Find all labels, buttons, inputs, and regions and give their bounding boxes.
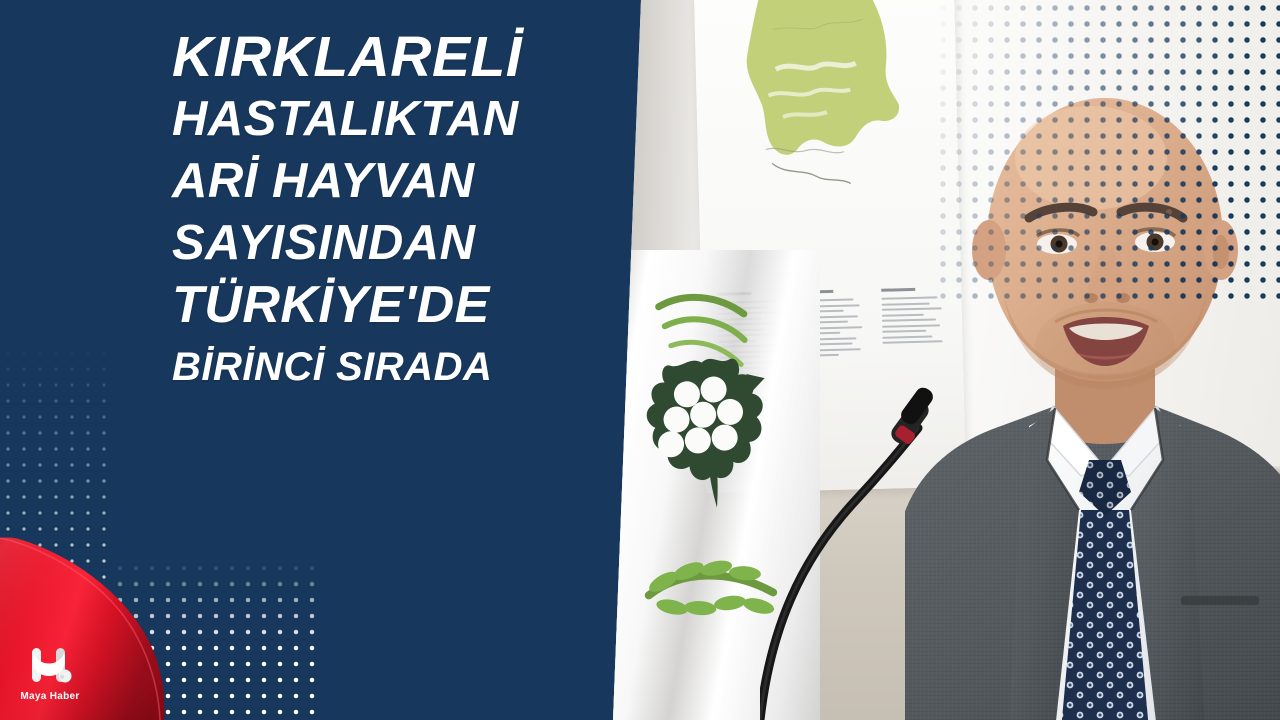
headline-line-5: TÜRKİYE'DE	[172, 274, 642, 336]
headline-line-6: BİRİNCİ SIRADA	[172, 336, 642, 398]
brand-logo[interactable]: Maya Haber	[14, 642, 86, 702]
headline-line-3: ARİ HAYVAN	[172, 150, 642, 212]
right-halftone-dot-grid	[935, 0, 1280, 300]
headline: KIRKLARELİ HASTALIKTAN ARİ HAYVAN SAYISI…	[172, 26, 642, 398]
headline-line-1: KIRKLARELİ	[172, 26, 642, 88]
headline-line-2: HASTALIKTAN	[172, 88, 642, 150]
news-graphic-card: KIRKLARELİ HASTALIKTAN ARİ HAYVAN SAYISI…	[0, 0, 1280, 720]
map-landmass-icon	[712, 0, 918, 231]
brand-name: Maya Haber	[14, 691, 86, 702]
maya-haber-h-monogram-icon	[24, 642, 76, 688]
headline-line-4: SAYISINDAN	[172, 212, 642, 274]
